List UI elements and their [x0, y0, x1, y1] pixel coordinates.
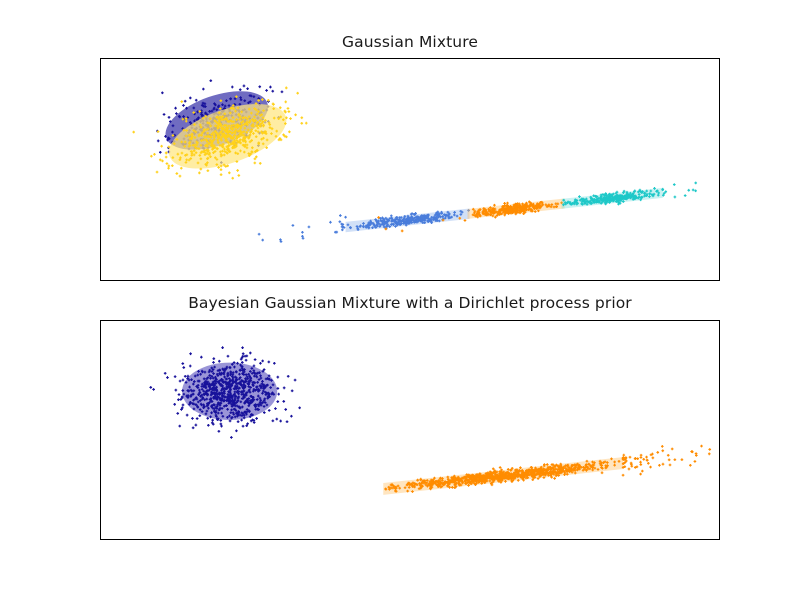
page-title-secondary: Bayesian Gaussian Mixture with a Dirichl… — [100, 294, 720, 312]
plot-axes-gaussian-mixture — [100, 58, 720, 281]
plot-axes-bayesian-gaussian-mixture — [100, 320, 720, 540]
scatter-canvas-bayesian-gaussian-mixture — [101, 321, 719, 539]
matplotlib-figure: Gaussian Mixture Bayesian Gaussian Mixtu… — [0, 0, 800, 600]
page-title: Gaussian Mixture — [100, 33, 720, 51]
scatter-canvas-gaussian-mixture — [101, 59, 719, 280]
